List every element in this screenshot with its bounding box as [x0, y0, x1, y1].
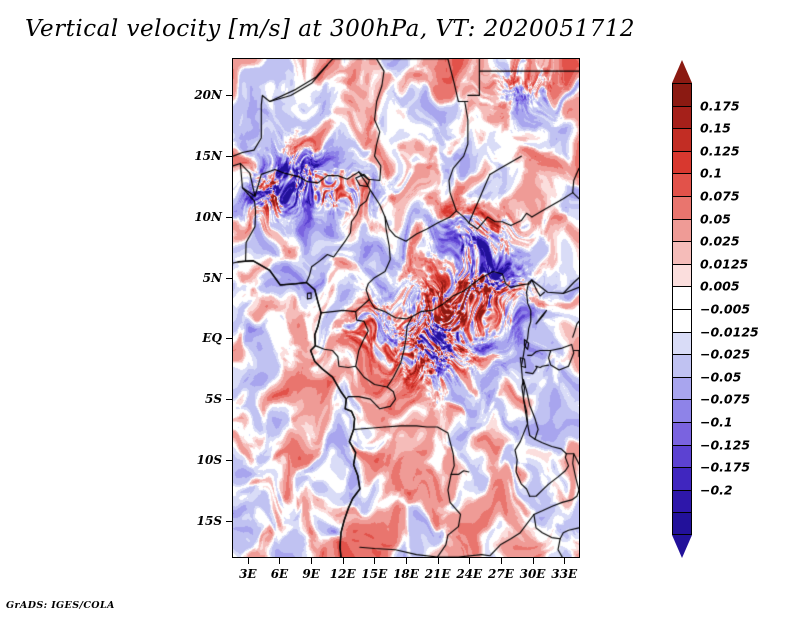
colorbar-tick-label: −0.0125: [700, 324, 759, 339]
colorbar-tick-label: −0.075: [700, 392, 750, 407]
x-axis-tick: [564, 558, 565, 564]
colorbar-swatch: [672, 196, 692, 219]
x-axis-tick: [279, 558, 280, 564]
y-axis-label: 5S: [176, 392, 222, 406]
colorbar-tick-label: −0.05: [700, 369, 741, 384]
x-axis-label: 24E: [456, 567, 482, 581]
y-axis-label: 15N: [176, 149, 222, 163]
x-axis-tick: [501, 558, 502, 564]
colorbar-tick-label: −0.2: [700, 482, 733, 497]
colorbar-swatch: [672, 490, 692, 513]
colorbar-tick-label: −0.025: [700, 347, 750, 362]
x-axis-tick: [438, 558, 439, 564]
colorbar-tick-label: 0.175: [700, 98, 740, 113]
colorbar-tick-label: 0.005: [700, 279, 740, 294]
x-axis-label: 3E: [239, 567, 257, 581]
colorbar-swatch: [672, 512, 692, 535]
colorbar-tick-label: 0.05: [700, 211, 731, 226]
attribution-footer: GrADS: IGES/COLA: [6, 600, 115, 611]
chart-canvas: Vertical velocity [m/s] at 300hPa, VT: 2…: [0, 0, 800, 618]
colorbar-swatch: [672, 445, 692, 468]
y-axis-label: 20N: [176, 88, 222, 102]
colorbar-swatch: [672, 467, 692, 490]
x-axis-tick: [343, 558, 344, 564]
colorbar-max-arrow-icon: [672, 60, 692, 83]
y-axis-tick: [226, 278, 232, 279]
x-axis-label: 27E: [488, 567, 514, 581]
colorbar-swatch: [672, 264, 692, 287]
colorbar-tick-label: −0.175: [700, 460, 750, 475]
chart-title: Vertical velocity [m/s] at 300hPa, VT: 2…: [0, 16, 660, 42]
x-axis-tick: [374, 558, 375, 564]
x-axis-label: 12E: [330, 567, 356, 581]
colorbar-swatch: [672, 399, 692, 422]
colorbar-tick-label: −0.125: [700, 437, 750, 452]
colorbar-swatch: [672, 128, 692, 151]
colorbar-tick-label: 0.025: [700, 234, 740, 249]
colorbar-swatch: [672, 354, 692, 377]
x-axis-label: 30E: [520, 567, 546, 581]
y-axis-tick: [226, 521, 232, 522]
colorbar-swatch: [672, 377, 692, 400]
colorbar-swatch: [672, 422, 692, 445]
x-axis-label: 9E: [302, 567, 320, 581]
x-axis-tick: [311, 558, 312, 564]
colorbar-swatch: [672, 83, 692, 106]
y-axis-tick: [226, 156, 232, 157]
x-axis-tick: [248, 558, 249, 564]
colorbar-tick-label: 0.0125: [700, 256, 748, 271]
colorbar-swatch: [672, 241, 692, 264]
y-axis-tick: [226, 399, 232, 400]
x-axis-tick: [469, 558, 470, 564]
x-axis-tick: [406, 558, 407, 564]
x-axis-label: 6E: [271, 567, 289, 581]
colorbar-tick-label: 0.125: [700, 143, 740, 158]
x-axis-label: 33E: [551, 567, 577, 581]
colorbar-tick-label: 0.15: [700, 121, 731, 136]
x-axis-label: 21E: [425, 567, 451, 581]
colorbar-tick-label: −0.005: [700, 302, 750, 317]
colorbar-swatch: [672, 151, 692, 174]
y-axis-tick: [226, 338, 232, 339]
y-axis-label: 5N: [176, 271, 222, 285]
y-axis-tick: [226, 95, 232, 96]
colorbar-swatch: [672, 309, 692, 332]
colorbar-swatch: [672, 219, 692, 242]
y-axis-label: EQ: [176, 331, 222, 345]
country-borders-overlay: [233, 59, 579, 557]
x-axis-label: 15E: [361, 567, 387, 581]
x-axis-label: 18E: [393, 567, 419, 581]
colorbar-min-arrow-icon: [672, 535, 692, 558]
colorbar: [672, 60, 692, 558]
colorbar-tick-label: 0.075: [700, 189, 740, 204]
colorbar-tick-label: −0.1: [700, 415, 733, 430]
y-axis-label: 10N: [176, 210, 222, 224]
colorbar-swatch: [672, 173, 692, 196]
x-axis-tick: [533, 558, 534, 564]
y-axis-tick: [226, 460, 232, 461]
y-axis-label: 10S: [176, 453, 222, 467]
y-axis-tick: [226, 217, 232, 218]
map-plot-area: [232, 58, 580, 558]
colorbar-swatch: [672, 106, 692, 129]
colorbar-swatch: [672, 286, 692, 309]
colorbar-scale: [672, 83, 692, 535]
colorbar-swatch: [672, 332, 692, 355]
colorbar-tick-label: 0.1: [700, 166, 722, 181]
y-axis-label: 15S: [176, 514, 222, 528]
